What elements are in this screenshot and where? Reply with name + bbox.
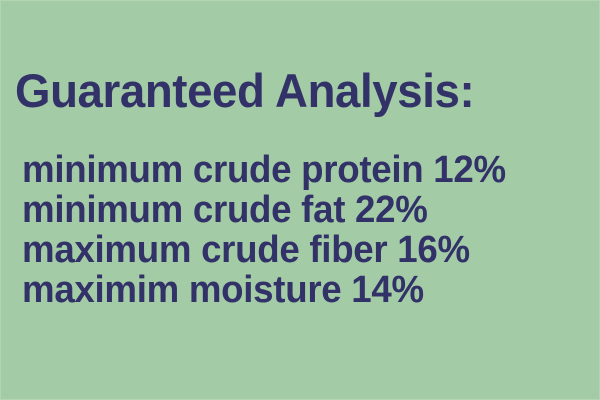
list-item: maximum crude fiber 16% [22,230,577,270]
page-title: Guaranteed Analysis: [15,66,568,116]
guaranteed-analysis-panel: Guaranteed Analysis: minimum crude prote… [0,0,600,400]
list-item: maximim moisture 14% [22,270,577,310]
heading-block: Guaranteed Analysis: [15,66,585,116]
list-item: minimum crude fat 22% [22,190,577,230]
list-item: minimum crude protein 12% [22,150,577,190]
analysis-list: minimum crude protein 12% minimum crude … [22,150,597,310]
